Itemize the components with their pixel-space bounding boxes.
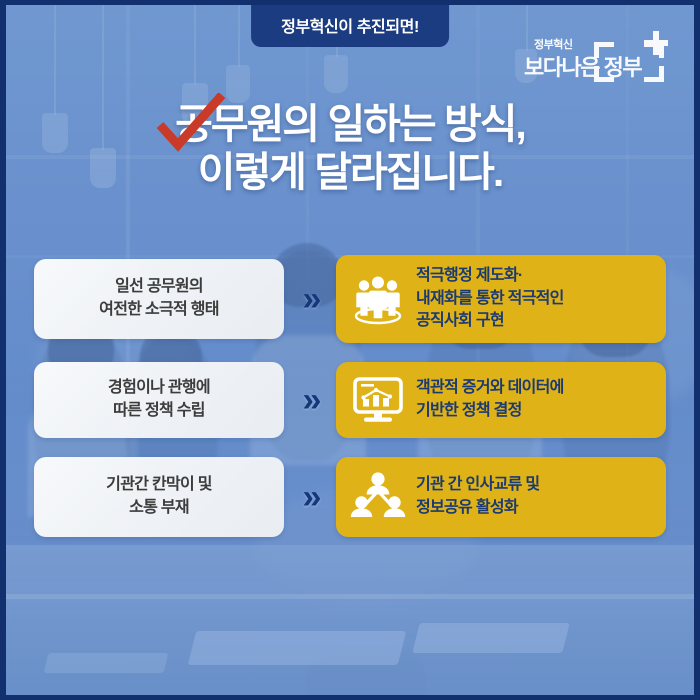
after-card-1-line-3: 공직사회 구현 xyxy=(416,310,564,333)
government-innovation-logo: 정부혁신 보다나은 정부 xyxy=(512,32,672,90)
after-card-2-line-2: 기반한 정책 결정 xyxy=(416,400,564,423)
after-card-2: 객관적 증거와 데이터에 기반한 정책 결정 xyxy=(336,362,666,438)
bracket-bottom-left-icon xyxy=(594,66,614,82)
after-card-2-line-1: 객관적 증거와 데이터에 xyxy=(416,377,564,400)
after-card-1-line-2: 내재화를 통한 적극적인 xyxy=(416,288,564,311)
before-card-2: 경험이나 관행에 따른 정책 수립 xyxy=(34,362,284,438)
comparison-row: 일선 공무원의 여전한 소극적 행태 » xyxy=(34,255,666,343)
before-card-2-line-2: 따른 정책 수립 xyxy=(108,400,210,423)
headline: 공무원의 일하는 방식, 이렇게 달라집니다. xyxy=(6,101,694,197)
after-card-3: 기관 간 인사교류 및 정보공유 활성화 xyxy=(336,457,666,537)
people-network-icon xyxy=(350,469,406,525)
three-people-group-icon xyxy=(350,271,406,327)
comparison-row: 기관간 칸막이 및 소통 부재 » xyxy=(34,457,666,537)
after-card-3-line-1: 기관 간 인사교류 및 xyxy=(416,474,539,497)
comparison-row: 경험이나 관행에 따른 정책 수립 » xyxy=(34,362,666,438)
top-banner: 정부혁신이 추진되면! xyxy=(251,5,449,47)
before-card-2-line-1: 경험이나 관행에 xyxy=(108,377,210,400)
double-chevron-right-icon: » xyxy=(284,383,336,417)
double-chevron-right-icon: » xyxy=(284,480,336,514)
after-card-1: 적극행정 제도화· 내재화를 통한 적극적인 공직사회 구현 xyxy=(336,255,666,343)
before-card-3-line-1: 기관간 칸막이 및 xyxy=(106,474,212,497)
comparison-rows: 일선 공무원의 여전한 소극적 행태 » xyxy=(6,255,694,556)
headline-line-2: 이렇게 달라집니다. xyxy=(6,149,694,197)
logo-main-text: 보다나은 정부 xyxy=(524,50,641,82)
after-card-3-line-2: 정보공유 활성화 xyxy=(416,497,539,520)
monitor-chart-icon xyxy=(350,372,406,428)
before-card-3-line-2: 소통 부재 xyxy=(106,497,212,520)
before-card-1-line-1: 일선 공무원의 xyxy=(99,276,219,299)
poster-stage: 정부혁신이 추진되면! 정부혁신 보다나은 정부 공무원의 일하는 방식, 이렇… xyxy=(6,5,694,695)
before-card-3: 기관간 칸막이 및 소통 부재 xyxy=(34,457,284,537)
bracket-top-left-icon xyxy=(594,42,614,58)
before-card-1-line-2: 여전한 소극적 행태 xyxy=(99,299,219,322)
after-card-1-line-1: 적극행정 제도화· xyxy=(416,265,564,288)
plus-icon xyxy=(643,31,669,57)
bracket-bottom-right-icon xyxy=(644,66,664,82)
headline-line-1: 공무원의 일하는 방식, xyxy=(6,101,694,149)
double-chevron-right-icon: » xyxy=(284,282,336,316)
before-card-1: 일선 공무원의 여전한 소극적 행태 xyxy=(34,259,284,339)
poster: 정부혁신이 추진되면! 정부혁신 보다나은 정부 공무원의 일하는 방식, 이렇… xyxy=(0,0,700,700)
